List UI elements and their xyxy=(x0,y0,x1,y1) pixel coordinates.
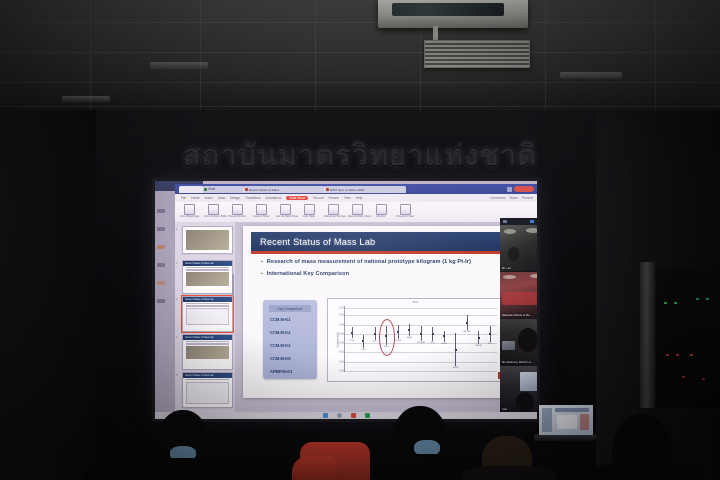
chart-highlight-ellipse xyxy=(379,319,395,356)
rack-led xyxy=(666,354,669,356)
participant-name: Ms Manhong, MASS LA... xyxy=(502,361,533,364)
rack-led xyxy=(690,354,693,356)
ribbon-tab[interactable]: Help xyxy=(356,196,363,200)
ribbon-button-from-current[interactable]: From Current Slide xyxy=(204,204,222,219)
account-badge[interactable] xyxy=(514,186,534,192)
thumbnail-slide[interactable]: Recent Status of Mass Lab xyxy=(182,334,233,370)
ceiling-light xyxy=(62,96,110,102)
ribbon-tab[interactable]: Home xyxy=(191,196,200,200)
hide-icon xyxy=(304,204,315,215)
tab-label: Recent Status of Mass ... xyxy=(249,188,283,192)
chart-ytick: -0.05 xyxy=(338,342,343,345)
present-button[interactable]: Present xyxy=(522,196,533,200)
ribbon-label: Monitor xyxy=(372,216,390,219)
video-tile[interactable]: Ms Manhong, MASS LA... xyxy=(500,319,537,365)
slide-title: Recent Status of Mass Lab xyxy=(260,237,375,247)
thumb-title: Recent Status of Mass Lab xyxy=(185,297,232,302)
chart-ytick: 0.05 xyxy=(339,323,344,326)
chart-ytick: 0.14 xyxy=(339,306,344,309)
tab-label: สไลด์ xyxy=(208,187,215,192)
rack-led xyxy=(676,354,679,356)
pdf-icon[interactable] xyxy=(351,413,356,418)
ribbon-label: Hide Slide xyxy=(300,216,318,219)
ribbon-button-record[interactable]: Record Slide Show xyxy=(348,204,366,219)
ribbon-label: Record Slide Show xyxy=(348,216,366,219)
thumb-number: 1 xyxy=(176,228,177,231)
start-icon[interactable] xyxy=(323,413,328,418)
window-controls[interactable] xyxy=(507,186,534,192)
participant-name: LEE xyxy=(502,408,507,411)
ribbon-tab[interactable]: Review xyxy=(329,196,339,200)
broadcast-icon xyxy=(232,204,243,215)
slide-title-bar: Recent Status of Mass Lab xyxy=(251,232,510,251)
window-titlebar: สไลด์ Recent Status of Mass ... NIMT Sym… xyxy=(175,184,537,194)
thumb-title: Recent Status of Mass Lab xyxy=(185,335,232,340)
projection-screen: สไลด์ Recent Status of Mass ... NIMT Sym… xyxy=(155,181,537,419)
key-comparison-item: CCM.M-K5 xyxy=(270,356,290,361)
bullet-marker: ▪ xyxy=(261,271,263,278)
ribbon-tab[interactable]: Design xyxy=(230,196,240,200)
chart-ytick: -0.20 xyxy=(338,370,343,373)
bullet-text: International Key Comparison xyxy=(267,271,349,278)
ceiling-projector xyxy=(378,0,528,28)
ribbon-label: Presenter View xyxy=(396,216,414,219)
rack-led xyxy=(682,376,685,378)
thumb-number: 4 xyxy=(176,336,177,339)
ribbon-label: From Current Slide xyxy=(204,216,222,219)
thumb-title: Recent Status of Mass Lab xyxy=(185,261,232,266)
air-vent xyxy=(424,40,530,68)
comments-button[interactable]: Comments xyxy=(490,196,505,200)
rack-led xyxy=(664,302,667,304)
ribbon-tab[interactable]: File xyxy=(181,196,186,200)
current-slide[interactable]: Recent Status of Mass Lab ▪ Research of … xyxy=(243,226,518,398)
thumbnail-slide[interactable]: Recent Status of Mass Lab xyxy=(182,372,233,408)
auditorium-scene: สถาบันมาตรวิทยาแห่งชาติ xyxy=(0,0,720,480)
server-rack xyxy=(656,268,720,408)
ribbon-button-hide-slide[interactable]: Hide Slide xyxy=(300,204,318,219)
monitor-icon xyxy=(208,204,219,215)
thumb-number: 5 xyxy=(176,374,177,377)
ribbon-button-from-beginning[interactable]: From Beginning xyxy=(180,204,198,219)
ceiling-light xyxy=(150,62,208,69)
search-icon[interactable] xyxy=(337,413,342,418)
ribbon-button-monitor[interactable]: Monitor xyxy=(372,204,390,219)
slide-thumbnail-pane[interactable]: 1 2 Recent Status of Mass Lab 3 Recent S… xyxy=(175,222,236,413)
ribbon-label: Present Online xyxy=(228,216,246,219)
custom-icon xyxy=(256,204,267,215)
thumbnail-scrollbar[interactable] xyxy=(232,274,234,296)
laptop-base xyxy=(534,435,596,441)
key-comparison-box: Key Comparison CCM.M-K1 CCM.M-K4 CCM.M-K… xyxy=(263,300,317,379)
ribbon-label: From Beginning xyxy=(180,216,198,219)
projector-lens xyxy=(392,3,504,16)
browser-tab[interactable] xyxy=(179,186,203,193)
ribbon-label: Set Up Slide Show xyxy=(276,216,294,219)
thumb-number: 2 xyxy=(176,262,177,265)
minimize-icon[interactable] xyxy=(507,187,512,192)
excel-icon[interactable] xyxy=(365,413,370,418)
ribbon-tab[interactable]: Insert xyxy=(205,196,213,200)
chart-ytick: -0.10 xyxy=(338,351,343,354)
chart-ytick: 0.10 xyxy=(339,314,344,317)
video-conference-panel[interactable]: Mr. Lee National Institute of Me... Ms M… xyxy=(500,218,537,412)
ribbon-label: Rehearse Timings xyxy=(324,216,342,219)
tab-label: NIMT Sym on Metro 2022 xyxy=(330,188,364,192)
bullet-marker: ▪ xyxy=(261,259,263,266)
rack-led xyxy=(706,298,709,300)
rehearse-icon xyxy=(328,204,339,215)
ribbon-tab-strip[interactable]: File Home Insert Draw Design Transitions… xyxy=(175,194,537,202)
ribbon-tab[interactable]: Transitions xyxy=(245,196,260,200)
bullet-text: Research of mass measurement of national… xyxy=(267,259,471,266)
grid-view-icon[interactable] xyxy=(503,220,507,223)
door-frame xyxy=(640,262,655,408)
powerpoint-window[interactable]: สไลด์ Recent Status of Mass ... NIMT Sym… xyxy=(175,184,537,419)
video-panel-header[interactable] xyxy=(500,218,537,225)
ribbon-button-setup[interactable]: Set Up Slide Show xyxy=(276,204,294,219)
ribbon-right-actions[interactable]: Comments Share Present xyxy=(490,194,533,202)
browser-tab[interactable]: NIMT Sym on Metro 2022 xyxy=(324,186,406,193)
video-tile[interactable]: LEE xyxy=(500,366,537,412)
slide-accent-rule xyxy=(251,251,510,254)
key-comparison-item: CCM.M-K4 xyxy=(270,330,290,335)
chart-title: Pt-Ir xyxy=(328,300,503,304)
bullet-item: ▪ International Key Comparison xyxy=(261,271,506,278)
chart-plot-area: 0.140.100.050.00-0.05-0.10-0.15-0.20PTBL… xyxy=(344,306,497,372)
wall-pillar-left xyxy=(0,110,96,480)
browser-tab[interactable]: Recent Status of Mass ... xyxy=(243,186,325,193)
ribbon-tab[interactable]: Draw xyxy=(218,196,225,200)
participant-name: Mr. Lee xyxy=(502,267,511,270)
presenter-icon xyxy=(400,204,411,215)
ribbon-label: Custom Show xyxy=(252,216,270,219)
setup-icon xyxy=(280,204,291,215)
thumbnail-slide[interactable]: Recent Status of Mass Lab xyxy=(182,260,233,294)
record-icon xyxy=(352,204,363,215)
ribbon-button-rehearse[interactable]: Rehearse Timings xyxy=(324,204,342,219)
ribbon-tab[interactable]: Animations xyxy=(266,196,282,200)
browser-tab[interactable]: สไลด์ xyxy=(202,186,244,193)
video-tile[interactable]: Mr. Lee xyxy=(500,225,537,271)
ribbon-button-present-online[interactable]: Present Online xyxy=(228,204,246,219)
chart-ytick: -0.15 xyxy=(338,360,343,363)
video-tile[interactable]: National Institute of Me... xyxy=(500,272,537,318)
ceiling-light xyxy=(560,72,622,79)
presenter-laptop xyxy=(534,404,596,446)
key-comparison-header: Key Comparison xyxy=(269,305,311,312)
slide-bullet-list: ▪ Research of mass measurement of nation… xyxy=(261,259,506,284)
bullet-item: ▪ Research of mass measurement of nation… xyxy=(261,259,506,266)
thumbnail-slide[interactable] xyxy=(182,226,233,254)
chart-ytick: 0.00 xyxy=(339,332,344,335)
ribbon-button-presenter-view[interactable]: Presenter View xyxy=(396,204,414,219)
monitor2-icon xyxy=(376,204,387,215)
thumb-number: 3 xyxy=(176,298,177,301)
participant-name: National Institute of Me... xyxy=(502,314,532,317)
laptop-screen xyxy=(538,404,594,437)
thumbnail-slide-selected[interactable]: Recent Status of Mass Lab xyxy=(182,296,233,332)
key-comparison-item: APMP.M-K1 xyxy=(270,369,292,374)
key-comparison-chart: Pt-Ir Deviation (mg) 0.140.100.050.00-0.… xyxy=(327,298,504,382)
share-button[interactable]: Share xyxy=(509,196,518,200)
rack-led xyxy=(674,302,677,304)
ribbon-tab[interactable]: Record xyxy=(313,196,323,200)
thumb-title: Recent Status of Mass Lab xyxy=(185,373,232,378)
ribbon-tab[interactable]: View xyxy=(344,196,351,200)
rack-led xyxy=(696,298,699,300)
key-comparison-item: CCM.M-K2 xyxy=(270,343,290,348)
cursor-icon xyxy=(184,204,195,215)
ribbon-button-custom-show[interactable]: Custom Show xyxy=(252,204,270,219)
rack-led xyxy=(702,378,705,380)
os-taskbar[interactable] xyxy=(155,412,537,419)
slide-editing-area[interactable]: Recent Status of Mass Lab ▪ Research of … xyxy=(235,222,537,413)
key-comparison-item: CCM.M-K1 xyxy=(270,317,290,322)
ribbon-tab-selected[interactable]: Slide Show xyxy=(286,196,308,200)
participants-icon[interactable] xyxy=(530,220,534,223)
